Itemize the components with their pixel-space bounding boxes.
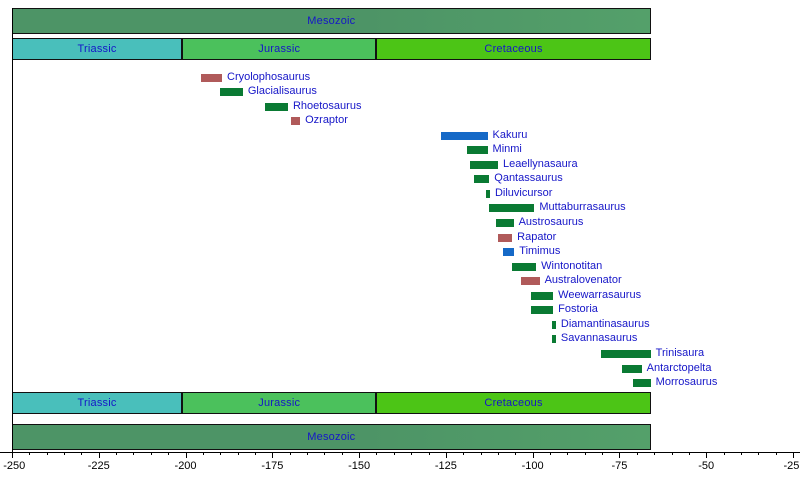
taxon-label: Savannasaurus (561, 331, 637, 345)
x-axis-minor-tick (81, 452, 82, 455)
x-axis-tick-label: -25 (783, 460, 799, 472)
timeline-chart: Mesozoic TriassicJurassicCretaceous Cryo… (0, 0, 800, 495)
x-axis-minor-tick (411, 452, 412, 455)
taxon-label: Austrosaurus (519, 215, 584, 229)
x-axis-minor-tick (342, 452, 343, 455)
taxon-label: Kakuru (493, 128, 528, 142)
x-axis-minor-tick (255, 452, 256, 455)
x-axis-tick-label: -175 (261, 460, 283, 472)
taxon-label: Trinisaura (656, 346, 705, 360)
x-axis-minor-tick (220, 452, 221, 455)
taxon-range-bar (498, 234, 512, 242)
taxon-range-bar (201, 74, 222, 82)
x-axis-minor-tick (672, 452, 673, 455)
period-band-cretaceous-bottom: Cretaceous (376, 392, 650, 414)
taxon-row: Rapator (0, 231, 800, 245)
taxon-range-bar (496, 219, 513, 227)
taxon-range-bar (552, 335, 556, 343)
era-band-mesozoic-top: Mesozoic (12, 8, 651, 34)
x-axis-minor-tick (238, 452, 239, 455)
taxon-row: Rhoetosaurus (0, 100, 800, 114)
x-axis-tick-label: -125 (435, 460, 457, 472)
taxon-label: Cryolophosaurus (227, 70, 310, 84)
taxon-row: Fostoria (0, 303, 800, 317)
x-axis-tick-label: -250 (3, 460, 25, 472)
x-axis-minor-tick (133, 452, 134, 455)
taxon-range-bar (521, 277, 540, 285)
taxon-range-bar (470, 161, 498, 169)
x-axis-tick (186, 452, 187, 458)
period-band-triassic-top: Triassic (12, 38, 182, 60)
taxon-row: Qantassaurus (0, 172, 800, 186)
taxon-label: Fostoria (558, 302, 598, 316)
taxon-row: Trinisaura (0, 347, 800, 361)
x-axis-minor-tick (203, 452, 204, 455)
taxon-row: Diamantinasaurus (0, 318, 800, 332)
taxon-row: Antarctopelta (0, 362, 800, 376)
x-axis-minor-tick (429, 452, 430, 455)
taxon-label: Qantassaurus (494, 171, 562, 185)
x-axis-minor-tick (689, 452, 690, 455)
period-band-label: Cretaceous (484, 43, 542, 55)
taxon-label: Diluvicursor (495, 186, 552, 200)
taxon-row: Cryolophosaurus (0, 71, 800, 85)
taxon-range-bar (489, 204, 534, 212)
taxon-row: Muttaburrasaurus (0, 201, 800, 215)
taxon-label: Weewarrasaurus (558, 288, 641, 302)
x-axis-minor-tick (567, 452, 568, 455)
x-axis-tick (533, 452, 534, 458)
x-axis-minor-tick (515, 452, 516, 455)
taxon-range-bar (622, 365, 642, 373)
x-axis-minor-tick (481, 452, 482, 455)
taxon-row: Diluvicursor (0, 187, 800, 201)
x-axis-minor-tick (29, 452, 30, 455)
era-band-mesozoic-bottom: Mesozoic (12, 424, 651, 450)
taxon-row: Wintonotitan (0, 260, 800, 274)
x-axis-tick (359, 452, 360, 458)
x-axis-tick-label: -225 (88, 460, 110, 472)
x-axis-minor-tick (64, 452, 65, 455)
taxon-label: Diamantinasaurus (561, 317, 650, 331)
period-band-label: Jurassic (258, 397, 300, 409)
taxon-range-bar (531, 306, 553, 314)
taxon-range-bar (633, 379, 651, 387)
period-band-label: Cretaceous (484, 397, 542, 409)
era-band-label: Mesozoic (307, 15, 355, 27)
period-band-label: Triassic (77, 397, 116, 409)
taxon-range-bar (220, 88, 243, 96)
taxon-label: Australovenator (545, 273, 622, 287)
taxon-row: Glacialisaurus (0, 85, 800, 99)
taxon-range-bar (265, 103, 288, 111)
x-axis-tick (619, 452, 620, 458)
taxon-label: Rapator (517, 230, 556, 244)
taxon-label: Rhoetosaurus (293, 99, 362, 113)
x-axis-tick-label: -200 (175, 460, 197, 472)
taxon-row: Leaellynasaura (0, 158, 800, 172)
taxon-label: Leaellynasaura (503, 157, 578, 171)
x-axis-minor-tick (463, 452, 464, 455)
x-axis-minor-tick (602, 452, 603, 455)
taxon-row: Ozraptor (0, 114, 800, 128)
taxon-range-bar (441, 132, 488, 140)
period-band-label: Jurassic (258, 43, 300, 55)
x-axis-tick-label: -100 (522, 460, 544, 472)
x-axis-minor-tick (290, 452, 291, 455)
taxon-label: Morrosaurus (656, 375, 718, 389)
taxon-range-bar (531, 292, 553, 300)
x-axis-minor-tick (151, 452, 152, 455)
x-axis-tick-label: -50 (698, 460, 714, 472)
x-axis-line (0, 452, 800, 453)
x-axis-minor-tick (307, 452, 308, 455)
taxon-range-bar (512, 263, 536, 271)
x-axis-tick-label: -150 (348, 460, 370, 472)
x-axis-minor-tick (550, 452, 551, 455)
x-axis-tick (99, 452, 100, 458)
x-axis-tick (12, 452, 13, 458)
taxon-range-bar (291, 117, 300, 125)
x-axis-minor-tick (585, 452, 586, 455)
taxon-label: Antarctopelta (647, 361, 712, 375)
taxon-range-bar (601, 350, 651, 358)
x-axis-minor-tick (654, 452, 655, 455)
taxon-label: Muttaburrasaurus (539, 200, 625, 214)
x-axis-minor-tick (394, 452, 395, 455)
taxon-label: Glacialisaurus (248, 84, 317, 98)
taxon-range-bar (467, 146, 488, 154)
x-axis-tick (793, 452, 794, 458)
x-axis-tick (706, 452, 707, 458)
x-axis-tick (446, 452, 447, 458)
period-band-triassic-bottom: Triassic (12, 392, 182, 414)
taxon-label: Wintonotitan (541, 259, 602, 273)
x-axis-minor-tick (498, 452, 499, 455)
taxon-range-bar (503, 248, 514, 256)
period-band-jurassic-bottom: Jurassic (182, 392, 376, 414)
x-axis-minor-tick (324, 452, 325, 455)
taxon-row: Austrosaurus (0, 216, 800, 230)
period-band-jurassic-top: Jurassic (182, 38, 376, 60)
x-axis-tick (272, 452, 273, 458)
x-axis-minor-tick (758, 452, 759, 455)
taxon-label: Timimus (519, 244, 560, 258)
era-band-label: Mesozoic (307, 431, 355, 443)
taxon-row: Australovenator (0, 274, 800, 288)
x-axis-minor-tick (116, 452, 117, 455)
taxon-row: Kakuru (0, 129, 800, 143)
taxon-label: Minmi (493, 142, 522, 156)
taxon-row: Weewarrasaurus (0, 289, 800, 303)
x-axis-minor-tick (741, 452, 742, 455)
taxon-range-bar (486, 190, 490, 198)
taxon-range-bar (474, 175, 490, 183)
x-axis-minor-tick (637, 452, 638, 455)
taxon-row: Minmi (0, 143, 800, 157)
taxon-row: Savannasaurus (0, 332, 800, 346)
x-axis-minor-tick (776, 452, 777, 455)
x-axis: -250-225-200-175-150-125-100-75-50-25 (0, 452, 800, 492)
taxon-row: Morrosaurus (0, 376, 800, 390)
taxon-label: Ozraptor (305, 113, 348, 127)
taxon-row: Timimus (0, 245, 800, 259)
plot-left-frame (12, 8, 13, 452)
x-axis-minor-tick (47, 452, 48, 455)
x-axis-minor-tick (724, 452, 725, 455)
period-band-label: Triassic (77, 43, 116, 55)
taxon-range-bar (552, 321, 556, 329)
x-axis-minor-tick (376, 452, 377, 455)
period-band-cretaceous-top: Cretaceous (376, 38, 650, 60)
x-axis-minor-tick (168, 452, 169, 455)
x-axis-tick-label: -75 (611, 460, 627, 472)
